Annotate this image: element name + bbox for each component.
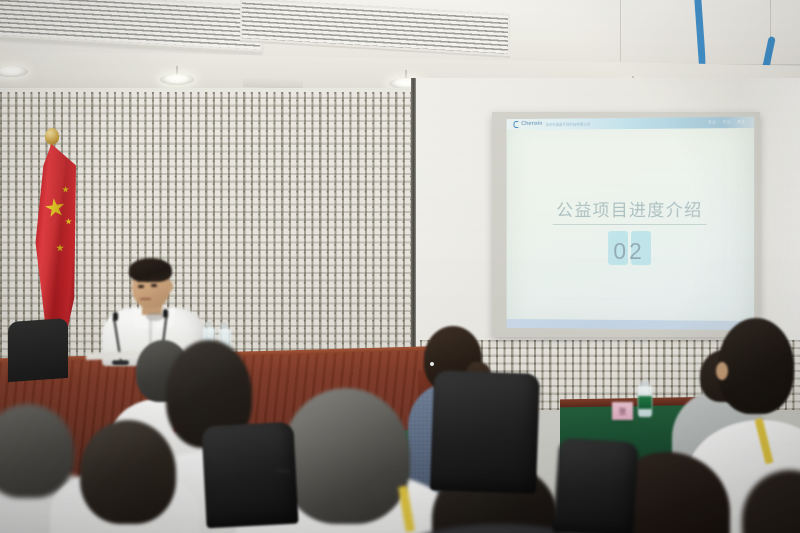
speaker-collar-shadow xyxy=(146,312,164,321)
attendee-head xyxy=(282,388,410,524)
office-chair xyxy=(553,437,640,533)
microphone-head-icon xyxy=(163,309,168,318)
desk-name-card: 张 xyxy=(612,402,633,420)
office-chair xyxy=(201,422,298,529)
office-chair xyxy=(430,370,540,494)
speaker-eyebrow xyxy=(137,280,146,282)
projection-screen: Chenxin 深圳市晨鑫环保科技有限公司 专业 · 专注 · 责任 公益项目进… xyxy=(507,117,755,330)
slide-header-tagline: 专业 · 专注 · 责任 xyxy=(708,119,746,124)
slide-title-underline xyxy=(553,224,707,225)
bottle-cap xyxy=(205,322,212,327)
attendee-head xyxy=(80,420,176,524)
speaker-eyebrow xyxy=(150,279,159,281)
air-conditioning-grille-icon xyxy=(0,0,262,54)
ceiling-downlight-icon xyxy=(160,74,194,85)
executive-chair xyxy=(8,318,68,382)
speaker-eye xyxy=(138,285,144,288)
attendee-earring xyxy=(430,362,434,366)
bottle-cap xyxy=(221,323,228,328)
slide-logo-subtext: 深圳市晨鑫环保科技有限公司 xyxy=(545,121,590,126)
speaker-ear xyxy=(166,281,173,292)
speaker-eye xyxy=(151,284,157,287)
microphone-head-icon xyxy=(113,312,118,321)
logo-mark-icon xyxy=(513,121,518,128)
attendee-ear xyxy=(716,362,728,380)
slide-title: 公益项目进度介绍 xyxy=(507,196,755,221)
slide-logo-text: Chenxin xyxy=(521,121,542,127)
slide-company-logo: Chenxin 深圳市晨鑫环保科技有限公司 xyxy=(513,120,590,128)
bottle-cap xyxy=(641,381,649,386)
bottle-label xyxy=(638,396,652,409)
slide-section-number: 02 xyxy=(507,238,755,266)
conference-room-photo: Chenxin 深圳市晨鑫环保科技有限公司 专业 · 专注 · 责任 公益项目进… xyxy=(0,0,800,533)
air-conditioning-grille-icon xyxy=(240,0,510,58)
attendee-head xyxy=(718,318,794,414)
flag-pole-finial xyxy=(45,128,59,144)
desk-name-card-text: 张 xyxy=(619,406,627,417)
